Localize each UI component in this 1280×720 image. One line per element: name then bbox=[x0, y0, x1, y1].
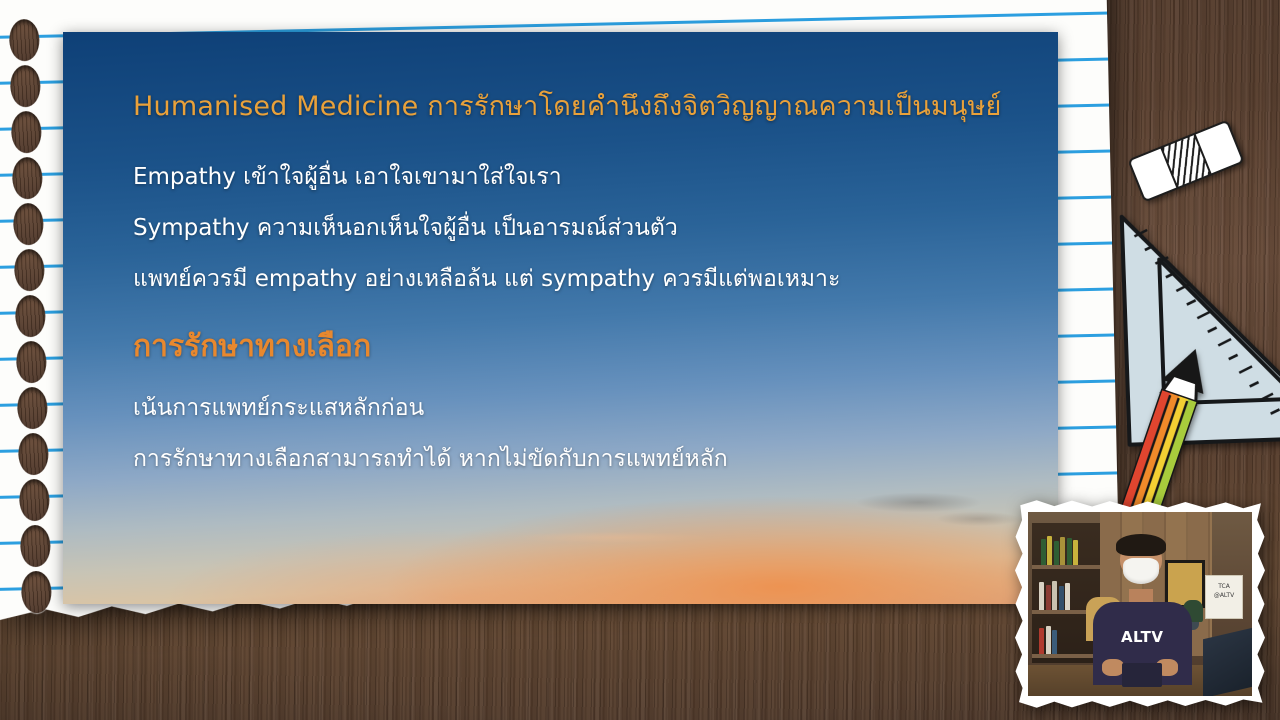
slide-title: Humanised Medicine การรักษาโดยคำนึงถึงจิ… bbox=[133, 90, 1018, 124]
section-line-not-conflicting: การรักษาทางเลือกสามารถทำได้ หากไม่ขัดกับ… bbox=[133, 445, 1018, 475]
handheld-card bbox=[1122, 663, 1162, 687]
body-line-sympathy: Sympathy ความเห็นอกเห็นใจผู้อื่น เป็นอาร… bbox=[133, 214, 1018, 244]
presenter-hair bbox=[1116, 534, 1165, 556]
slide-content: Humanised Medicine การรักษาโดยคำนึงถึงจิ… bbox=[133, 90, 1018, 475]
shirt-logo: ALTV bbox=[1113, 630, 1171, 650]
poster-line-2: @ALTV bbox=[1205, 591, 1243, 600]
bookshelf bbox=[1032, 523, 1099, 663]
laptop bbox=[1203, 627, 1252, 696]
body-line-empathy: Empathy เข้าใจผู้อื่น เอาใจเขามาใส่ใจเรา bbox=[133, 163, 1018, 193]
body-line-doctor-balance: แพทย์ควรมี empathy อย่างเหลือล้น แต่ sym… bbox=[133, 265, 1018, 295]
section-heading-alternative-medicine: การรักษาทางเลือก bbox=[133, 328, 1018, 366]
poster-line-1: TCA bbox=[1205, 582, 1243, 591]
video-feed[interactable]: TCA @ALTV ALTV bbox=[1028, 512, 1252, 696]
presenter-video-inset[interactable]: TCA @ALTV ALTV bbox=[1014, 499, 1266, 709]
tca-poster-text: TCA @ALTV bbox=[1205, 582, 1243, 600]
presentation-slide: Humanised Medicine การรักษาโดยคำนึงถึงจิ… bbox=[63, 32, 1058, 604]
presenter-hand-left bbox=[1102, 659, 1124, 676]
section-line-mainstream-first: เน้นการแพทย์กระแสหลักก่อน bbox=[133, 394, 1018, 424]
face-mask bbox=[1123, 558, 1159, 584]
